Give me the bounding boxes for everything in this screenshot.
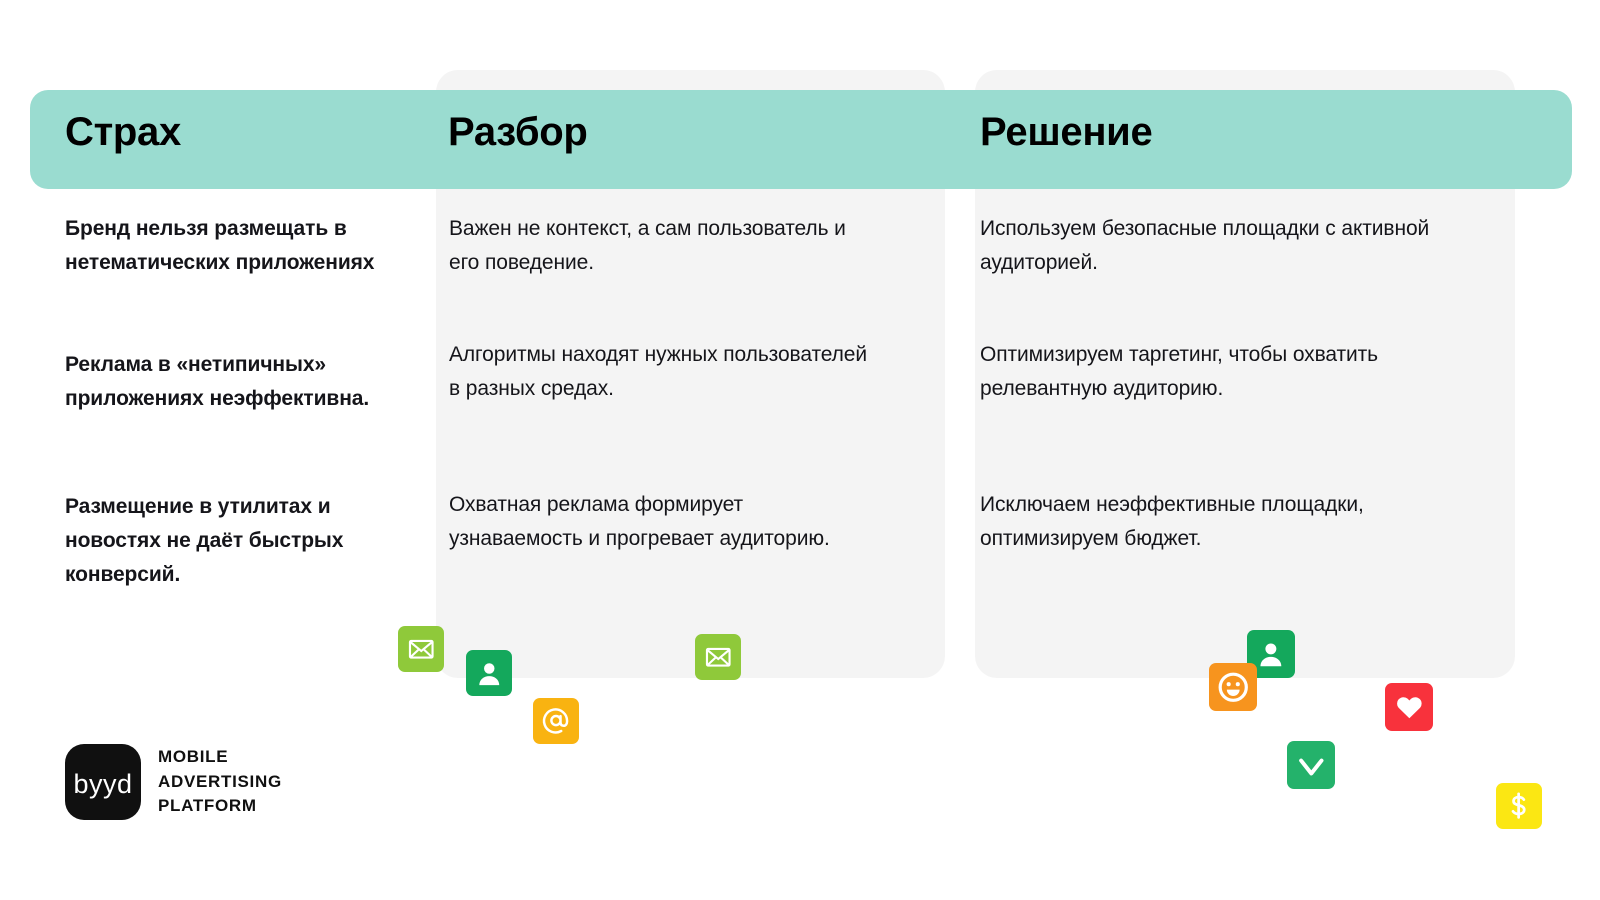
dollar-icon [1496, 783, 1542, 829]
cell-analysis-1: Важен не контекст, а сам пользователь и … [449, 212, 879, 280]
cell-fear-2: Реклама в «нетипичных» приложениях неэфф… [65, 348, 415, 416]
checkmark-icon [1287, 741, 1335, 789]
cell-fear-3: Размещение в утилитах и новостях не даёт… [65, 490, 415, 592]
logo-wordmark: MOBILE ADVERTISING PLATFORM [158, 746, 282, 817]
logo-mark: byyd [65, 744, 141, 820]
logo-line-2: ADVERTISING [158, 771, 282, 793]
column-title-analysis: Разбор [448, 112, 588, 152]
logo-line-1: MOBILE [158, 746, 282, 768]
cell-analysis-3: Охватная реклама формирует узнаваемость … [449, 488, 879, 556]
logo-line-3: PLATFORM [158, 795, 282, 817]
cell-fear-1: Бренд нельзя размещать в нетематических … [65, 212, 415, 280]
cell-solution-2: Оптимизируем таргетинг, чтобы охватить р… [980, 338, 1490, 406]
brand-logo: byyd MOBILE ADVERTISING PLATFORM [65, 744, 282, 820]
column-title-fear: Страх [65, 112, 181, 152]
cell-solution-3: Исключаем неэффективные площадки, оптими… [980, 488, 1490, 556]
at-sign-icon [533, 698, 579, 744]
envelope-icon [695, 634, 741, 680]
cell-analysis-2: Алгоритмы находят нужных пользователей в… [449, 338, 879, 406]
heart-icon [1385, 683, 1433, 731]
slide-canvas: Страх Разбор Решение Бренд нельзя размещ… [0, 0, 1600, 900]
column-title-solution: Решение [980, 112, 1152, 152]
header-band [30, 90, 1572, 189]
person-icon [466, 650, 512, 696]
cell-solution-1: Используем безопасные площадки с активно… [980, 212, 1490, 280]
logo-mark-text: byyd [73, 771, 132, 798]
envelope-icon [398, 626, 444, 672]
smiley-icon [1209, 663, 1257, 711]
